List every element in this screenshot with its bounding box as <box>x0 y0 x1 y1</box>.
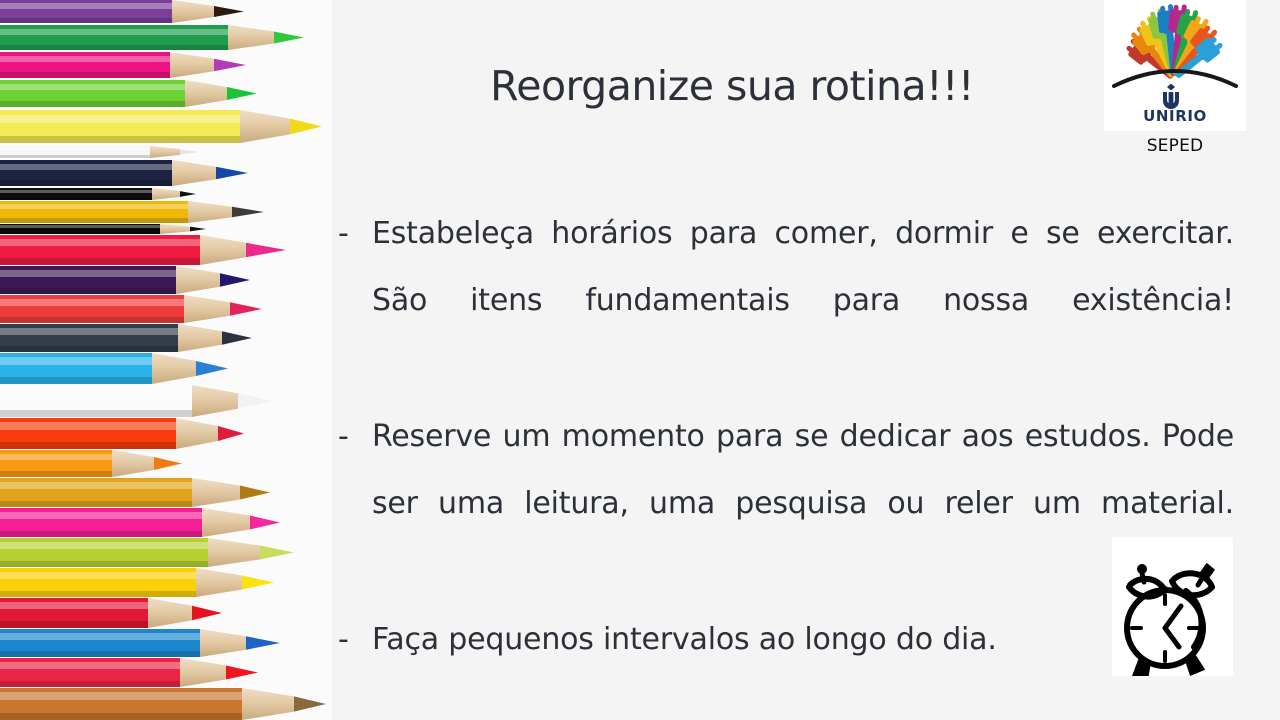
pencil-tip <box>290 110 322 143</box>
pencil-barrel <box>0 508 202 537</box>
pencil-22 <box>0 568 274 597</box>
pencil-tip <box>260 538 294 567</box>
pencil-14 <box>0 324 252 352</box>
pencil-barrel <box>0 235 200 265</box>
pencil-tip <box>220 266 250 294</box>
pencil-tip <box>230 295 262 323</box>
pencil-wood-cone <box>112 450 154 477</box>
pencil-wood-cone <box>200 629 246 657</box>
pencil-barrel <box>0 0 172 23</box>
pencil-19 <box>0 478 270 507</box>
pencil-1 <box>0 0 244 23</box>
pencil-13 <box>0 295 262 323</box>
pencil-tip <box>196 353 228 384</box>
pencil-wood-cone <box>180 658 226 687</box>
unirio-wordmark: UNIRIO <box>1104 107 1246 125</box>
list-item-text: Reserve um momento para se dedicar aos e… <box>372 403 1234 604</box>
pencil-wood-cone <box>192 478 240 507</box>
pencil-16 <box>0 385 272 417</box>
pencil-tip <box>240 478 270 507</box>
pencil-9 <box>0 201 264 223</box>
pencil-wood-cone <box>240 110 290 143</box>
pencil-tip <box>242 568 274 597</box>
pencil-barrel <box>0 629 200 657</box>
pencil-tip <box>294 688 326 720</box>
pencil-wood-cone <box>208 538 260 567</box>
list-item: - Estabeleça horários para comer, dormir… <box>334 200 1234 401</box>
pencil-wood-cone <box>170 52 214 78</box>
bullet-marker: - <box>338 403 349 470</box>
pencil-barrel <box>0 688 242 720</box>
list-item-text: Estabeleça horários para comer, dormir e… <box>372 200 1234 401</box>
pencil-barrel <box>0 295 184 323</box>
pencil-barrel <box>0 160 172 186</box>
pencil-tip <box>218 418 244 449</box>
pencil-wood-cone <box>228 25 274 50</box>
pencil-4 <box>0 80 257 107</box>
pencil-wood-cone <box>176 418 218 449</box>
pencil-10 <box>0 224 206 234</box>
pencil-barrel <box>0 598 148 628</box>
pencil-barrel <box>0 418 176 449</box>
pencil-barrel <box>0 80 185 107</box>
bullet-marker: - <box>338 200 349 267</box>
pencil-17 <box>0 418 244 449</box>
pencil-tip <box>246 629 280 657</box>
pencil-wood-cone <box>178 324 222 352</box>
pencil-tip <box>232 201 264 223</box>
pencil-tip <box>227 80 257 107</box>
pencil-wood-cone <box>185 80 227 107</box>
pencil-24 <box>0 629 280 657</box>
pencil-tip <box>180 188 196 200</box>
pencil-wood-cone <box>192 385 238 417</box>
pencil-wood-cone <box>176 266 220 294</box>
pencil-barrel <box>0 450 112 477</box>
pencil-tip <box>192 598 222 628</box>
pencil-6 <box>0 146 198 158</box>
pencil-11 <box>0 235 286 265</box>
pencil-wood-cone <box>184 295 230 323</box>
pencil-wood-cone <box>148 598 192 628</box>
pencil-tip <box>154 450 182 477</box>
pencil-wood-cone <box>152 188 180 200</box>
pencil-tip <box>190 224 206 234</box>
institution-logo-block: UNIRIO SEPED <box>1104 0 1246 156</box>
pencil-barrel <box>0 353 152 384</box>
pencil-barrel <box>0 25 228 50</box>
colored-pencils-photo <box>0 0 332 720</box>
pencil-barrel <box>0 568 196 597</box>
pencil-barrel <box>0 478 192 507</box>
pencil-tip <box>246 235 286 265</box>
slide-canvas: Reorganize sua rotina!!! <box>0 0 1280 720</box>
pencil-21 <box>0 538 294 567</box>
pencil-barrel <box>0 110 240 143</box>
pencil-barrel <box>0 224 160 234</box>
pencil-3 <box>0 52 246 78</box>
pencil-tip <box>214 52 246 78</box>
pencil-wood-cone <box>150 146 180 158</box>
pencil-wood-cone <box>200 235 246 265</box>
pencil-tip <box>250 508 280 537</box>
pencil-wood-cone <box>160 224 190 234</box>
unirio-logo-card: UNIRIO <box>1104 0 1246 131</box>
pencil-wood-cone <box>202 508 250 537</box>
list-item: - Faça pequenos intervalos ao longo do d… <box>334 606 1234 673</box>
pencil-wood-cone <box>172 0 214 23</box>
bullet-list: - Estabeleça horários para comer, dormir… <box>334 200 1234 675</box>
alarm-clock-image <box>1112 537 1233 676</box>
alarm-clock-icon <box>1112 537 1233 676</box>
pencil-20 <box>0 508 280 537</box>
pencil-wood-cone <box>152 353 196 384</box>
list-item-text: Faça pequenos intervalos ao longo do dia… <box>372 622 997 657</box>
pencil-tip <box>238 385 272 417</box>
pencil-tip <box>180 146 198 158</box>
pencil-tip <box>226 658 258 687</box>
pencil-barrel <box>0 52 170 78</box>
pencil-wood-cone <box>196 568 242 597</box>
bullet-marker: - <box>338 606 349 673</box>
pencil-26 <box>0 688 326 720</box>
pencil-tip <box>274 25 304 50</box>
pencil-tip <box>214 0 244 23</box>
pencil-wood-cone <box>188 201 232 223</box>
pencil-barrel <box>0 201 188 223</box>
pencil-12 <box>0 266 250 294</box>
pencil-wood-cone <box>172 160 216 186</box>
pencil-18 <box>0 450 182 477</box>
pencil-15 <box>0 353 228 384</box>
pencil-tip <box>222 324 252 352</box>
pencil-wood-cone <box>242 688 294 720</box>
page-title: Reorganize sua rotina!!! <box>332 62 1132 110</box>
pencil-23 <box>0 598 222 628</box>
pencil-2 <box>0 25 304 50</box>
pencil-7 <box>0 160 248 186</box>
pencil-barrel <box>0 658 180 687</box>
list-item: - Reserve um momento para se dedicar aos… <box>334 403 1234 604</box>
pencil-barrel <box>0 385 192 417</box>
pencil-barrel <box>0 538 208 567</box>
pencil-tip <box>216 160 248 186</box>
pencil-25 <box>0 658 258 687</box>
pencil-5 <box>0 110 322 143</box>
pencil-barrel <box>0 324 178 352</box>
pencil-barrel <box>0 266 176 294</box>
seped-label: SEPED <box>1104 136 1246 156</box>
pencil-barrel <box>0 188 152 200</box>
pencil-barrel <box>0 146 150 158</box>
pencil-8 <box>0 188 196 200</box>
